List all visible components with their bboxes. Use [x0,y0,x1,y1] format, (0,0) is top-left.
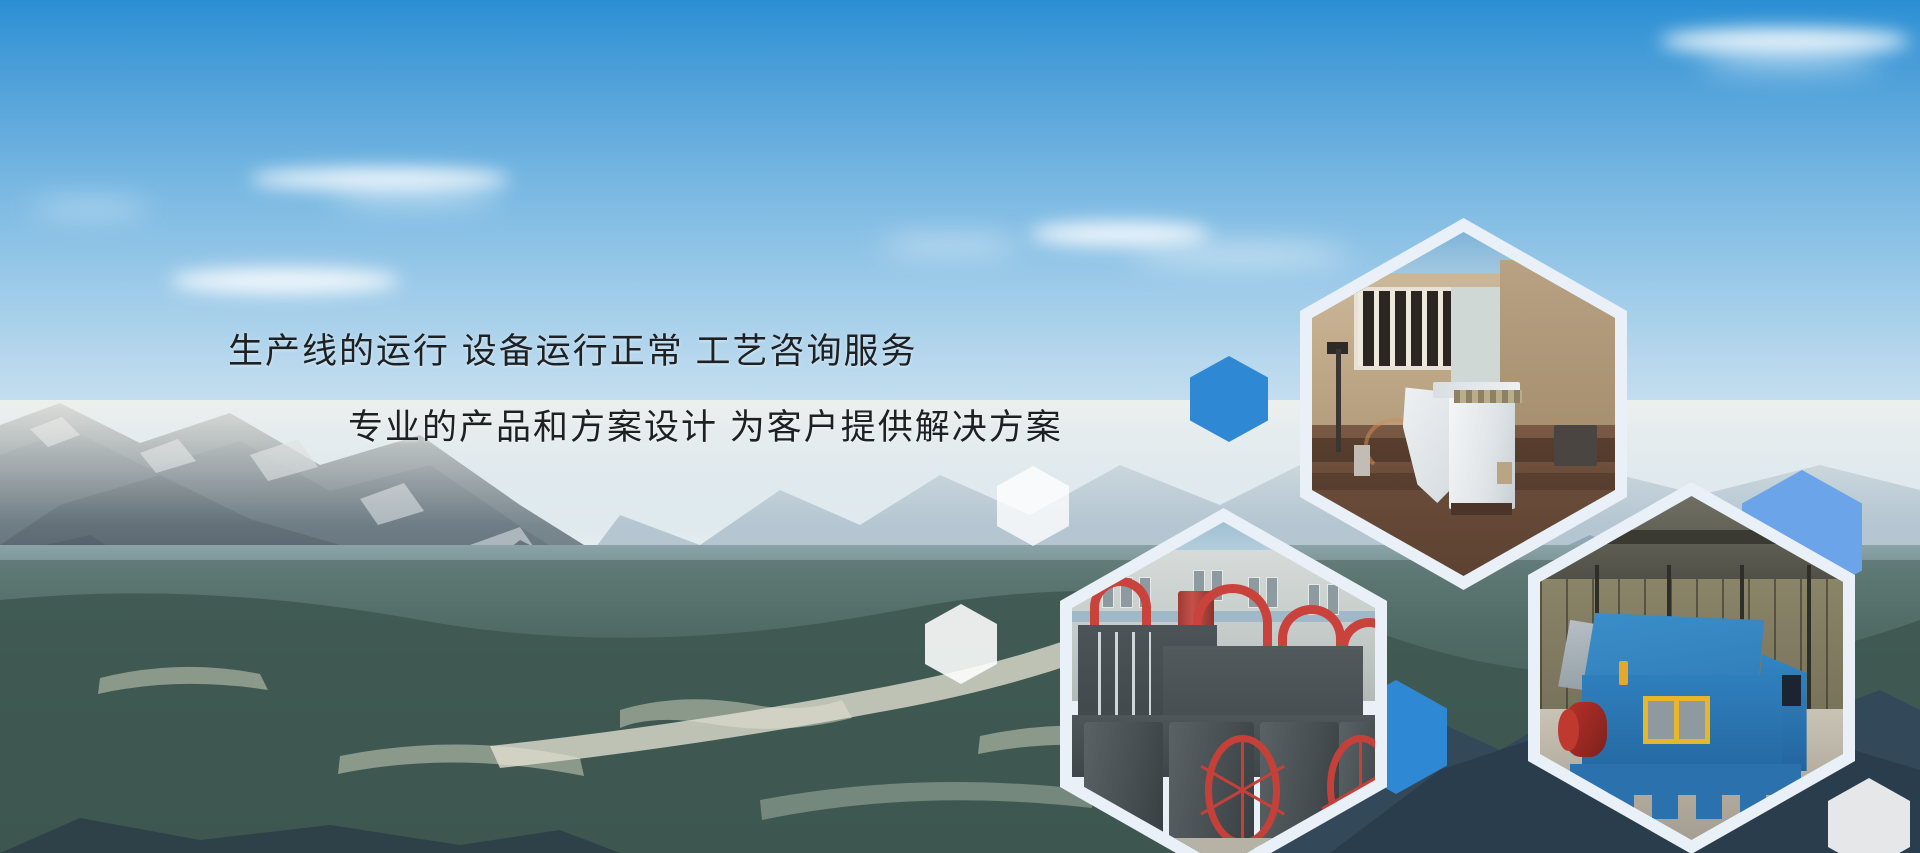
headline-block: 生产线的运行 设备运行正常 工艺咨询服务 专业的产品和方案设计 为客户提供解决方… [0,330,1120,450]
cloud-icon [30,202,150,214]
cloud-icon [1130,246,1350,264]
cloud-icon [170,268,400,294]
cloud-icon [250,168,510,190]
cloud-icon [880,238,1020,252]
cloud-icon [330,188,500,204]
cloud-icon [1030,222,1210,246]
headline-line-1: 生产线的运行 设备运行正常 工艺咨询服务 [0,330,1120,374]
cloud-icon [1660,28,1910,54]
cloud-icon [1700,52,1880,70]
banner-stage: 生产线的运行 设备运行正常 工艺咨询服务 专业的产品和方案设计 为客户提供解决方… [0,0,1920,853]
headline-line-2: 专业的产品和方案设计 为客户提供解决方案 [0,406,1120,450]
